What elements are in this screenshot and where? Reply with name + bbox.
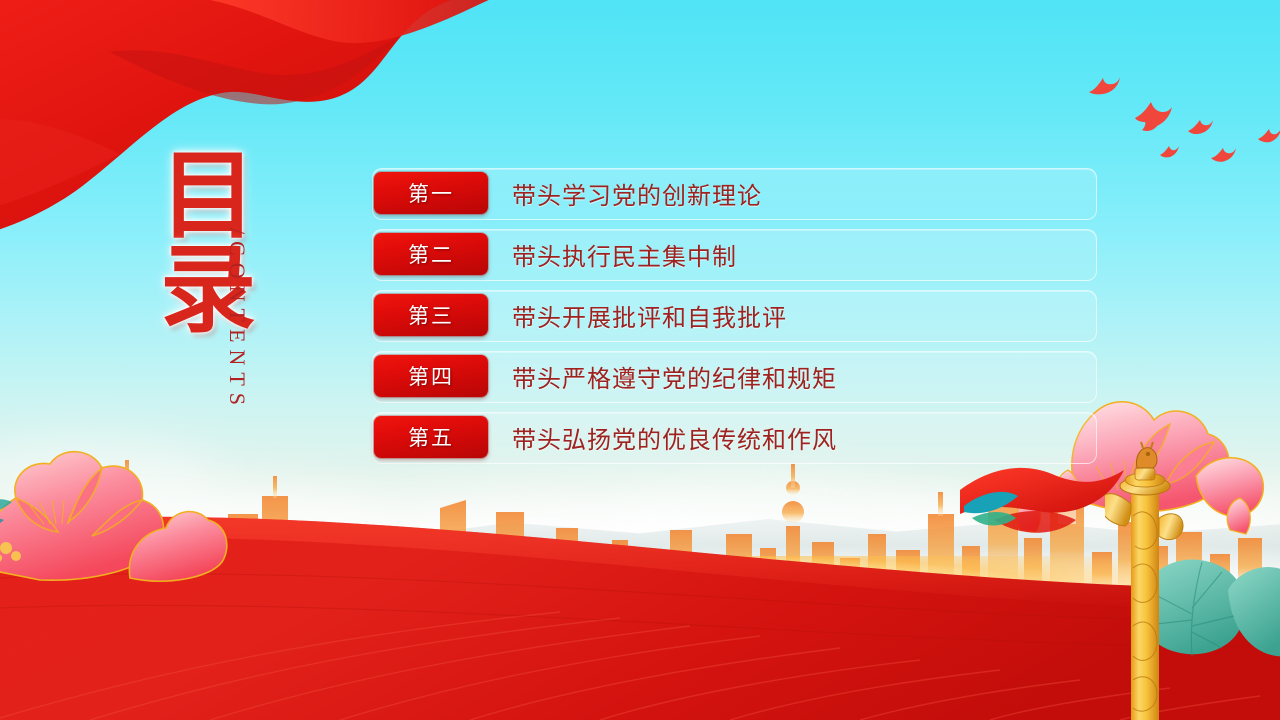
toc-index-badge[interactable]: 第三 [374, 294, 488, 336]
toc-item-label: 带头开展批评和自我批评 [512, 290, 787, 340]
toc-row[interactable]: 第五 带头弘扬党的优良传统和作风 [352, 412, 1097, 462]
title-char-2: 录 [160, 244, 280, 338]
page-title: 目 录 [160, 150, 280, 338]
toc-index-badge[interactable]: 第四 [374, 355, 488, 397]
toc-row[interactable]: 第三 带头开展批评和自我批评 [352, 290, 1097, 340]
toc-index-badge[interactable]: 第五 [374, 416, 488, 458]
toc-item-label: 带头学习党的创新理论 [512, 168, 762, 218]
toc-row[interactable]: 第一 带头学习党的创新理论 [352, 168, 1097, 218]
toc-item-label: 带头弘扬党的优良传统和作风 [512, 412, 837, 462]
toc-index-label: 第三 [408, 300, 454, 330]
contents-title-block: 目 录 /CONTENTS [150, 150, 330, 480]
toc-index-label: 第五 [408, 422, 454, 452]
toc-index-label: 第四 [408, 361, 454, 391]
toc-row[interactable]: 第二 带头执行民主集中制 [352, 229, 1097, 279]
toc-row[interactable]: 第四 带头严格遵守党的纪律和规矩 [352, 351, 1097, 401]
toc-index-label: 第一 [408, 178, 454, 208]
toc-item-label: 带头严格遵守党的纪律和规矩 [512, 351, 837, 401]
toc-index-badge[interactable]: 第二 [374, 233, 488, 275]
presentation-slide: 目 录 /CONTENTS 第一 带头学习党的创新理论 第二 带头执行民主集中制 [0, 0, 1280, 720]
title-char-1: 目 [160, 150, 280, 244]
toc-item-label: 带头执行民主集中制 [512, 229, 737, 279]
toc-index-badge[interactable]: 第一 [374, 172, 488, 214]
toc-index-label: 第二 [408, 239, 454, 269]
table-of-contents: 第一 带头学习党的创新理论 第二 带头执行民主集中制 第三 带头开展批评和自我批… [352, 168, 1097, 473]
page-title-subtitle: /CONTENTS [224, 228, 250, 412]
